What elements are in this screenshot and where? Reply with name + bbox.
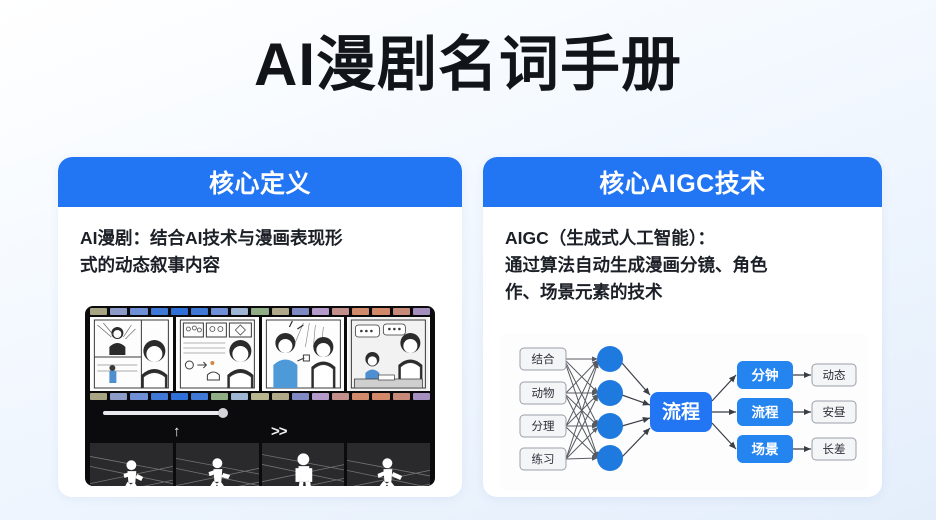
card-header-core-aigc-tech: 核心AIGC技术 xyxy=(483,157,882,207)
card-body-core-definition: AI漫剧：结合AI技术与漫画表现形 式的动态叙事内容 xyxy=(58,207,462,279)
walk-frame xyxy=(262,443,345,486)
up-arrow-icon[interactable]: ↑ xyxy=(173,423,181,440)
film-sprockets-bottom xyxy=(85,391,435,402)
diagram-input-label: 结合 xyxy=(532,352,555,366)
slider-knob[interactable] xyxy=(218,408,228,418)
diagram-output-label: 长差 xyxy=(823,442,846,456)
diagram-branch-label: 流程 xyxy=(752,404,780,420)
page-title: AI漫剧名词手册 xyxy=(0,33,936,98)
walk-frame xyxy=(347,443,430,486)
diagram-branch-label: 场景 xyxy=(752,442,780,457)
card-header-core-definition: 核心定义 xyxy=(58,157,462,207)
definition-line-1: AI漫剧：结合AI技术与漫画表现形 xyxy=(80,228,343,248)
neural-flow-diagram: 结合 动物 分理 练习 流程 分钟 流程 xyxy=(500,333,868,491)
walk-frame xyxy=(90,443,173,486)
diagram-branch-label: 分钟 xyxy=(752,367,779,383)
diagram-output-label: 动态 xyxy=(823,369,846,382)
comic-panel xyxy=(176,317,259,391)
fast-forward-icon[interactable]: >> xyxy=(271,423,287,440)
definition-line-2: 式的动态叙事内容 xyxy=(80,255,220,275)
aigc-line-2: 通过算法自动生成漫画分镜、角色 xyxy=(505,255,768,275)
diagram-output-label: 安昼 xyxy=(823,405,846,419)
diagram-input-label: 动物 xyxy=(532,386,555,400)
diagram-input-label: 练习 xyxy=(532,452,555,466)
walk-cycle-frames xyxy=(90,443,430,486)
film-sprockets-top xyxy=(85,306,435,317)
comic-panel xyxy=(347,317,430,391)
diagram-input-label: 分理 xyxy=(532,420,555,433)
comic-panels xyxy=(90,317,430,391)
definition-text: AI漫剧：结合AI技术与漫画表现形 式的动态叙事内容 xyxy=(80,225,440,279)
slider-track[interactable] xyxy=(103,411,223,415)
card-header-label: 核心AIGC技术 xyxy=(599,164,766,200)
timeline-slider[interactable] xyxy=(85,402,435,424)
aigc-line-3: 作、场景元素的技术 xyxy=(505,282,663,302)
playback-controls: ↑ >> xyxy=(85,424,435,443)
card-header-label: 核心定义 xyxy=(209,164,311,200)
aigc-text: AIGC（生成式人工智能）： 通过算法自动生成漫画分镜、角色 作、场景元素的技术 xyxy=(505,225,860,306)
diagram-center-label: 流程 xyxy=(662,400,700,423)
film-strip-illustration: ↑ >> xyxy=(85,306,435,486)
card-body-core-aigc-tech: AIGC（生成式人工智能）： 通过算法自动生成漫画分镜、角色 作、场景元素的技术 xyxy=(483,207,882,306)
walk-frame xyxy=(176,443,259,486)
comic-panel xyxy=(90,317,173,391)
aigc-line-1: AIGC（生成式人工智能）： xyxy=(505,228,715,248)
comic-panel xyxy=(262,317,345,391)
